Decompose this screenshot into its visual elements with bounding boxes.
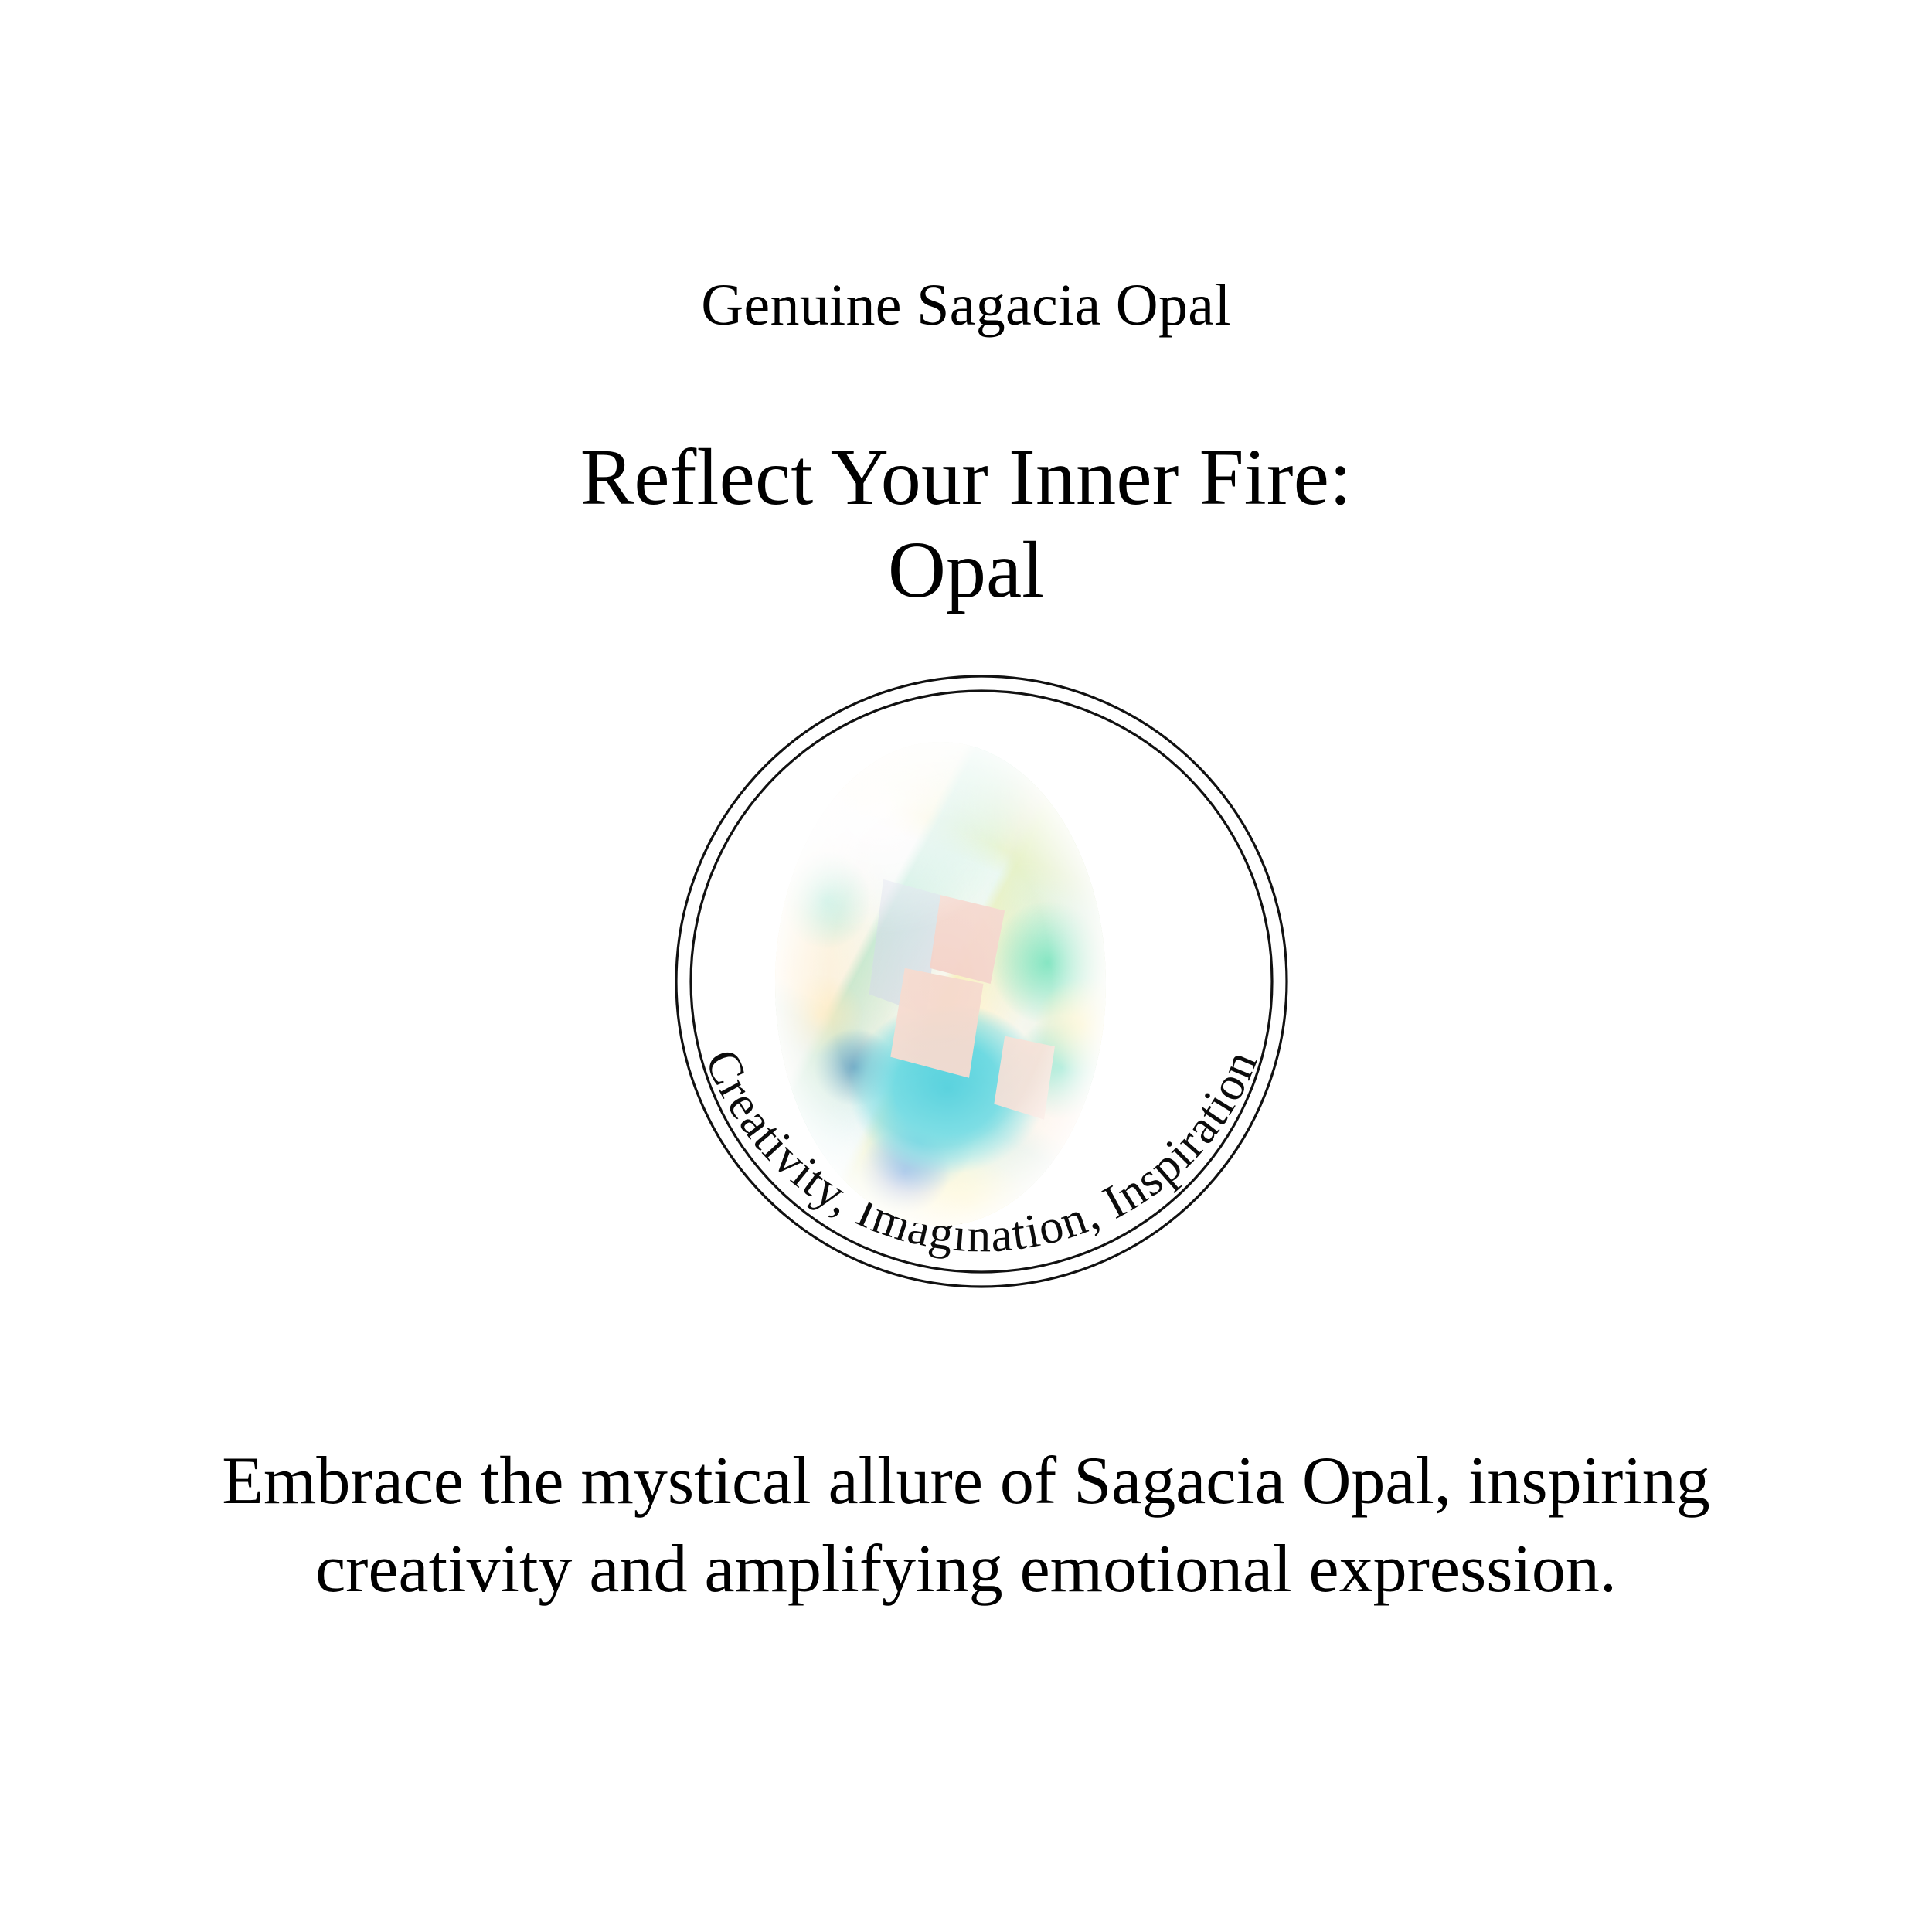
gem-edge-fade <box>775 742 1106 1226</box>
gem-image-container <box>775 742 1106 1226</box>
headline-line-2: Opal <box>0 526 1932 615</box>
product-description: Embrace the mystical allure of Sagacia O… <box>193 1437 1739 1614</box>
opal-gemstone <box>775 742 1106 1226</box>
headline-line-1: Reflect Your Inner Fire: <box>0 433 1932 522</box>
product-banner: Genuine Sagacia Opal Reflect Your Inner … <box>0 0 1932 1932</box>
brand-eyebrow: Genuine Sagacia Opal <box>0 275 1932 337</box>
page-title: Reflect Your Inner Fire: Opal <box>0 433 1932 616</box>
